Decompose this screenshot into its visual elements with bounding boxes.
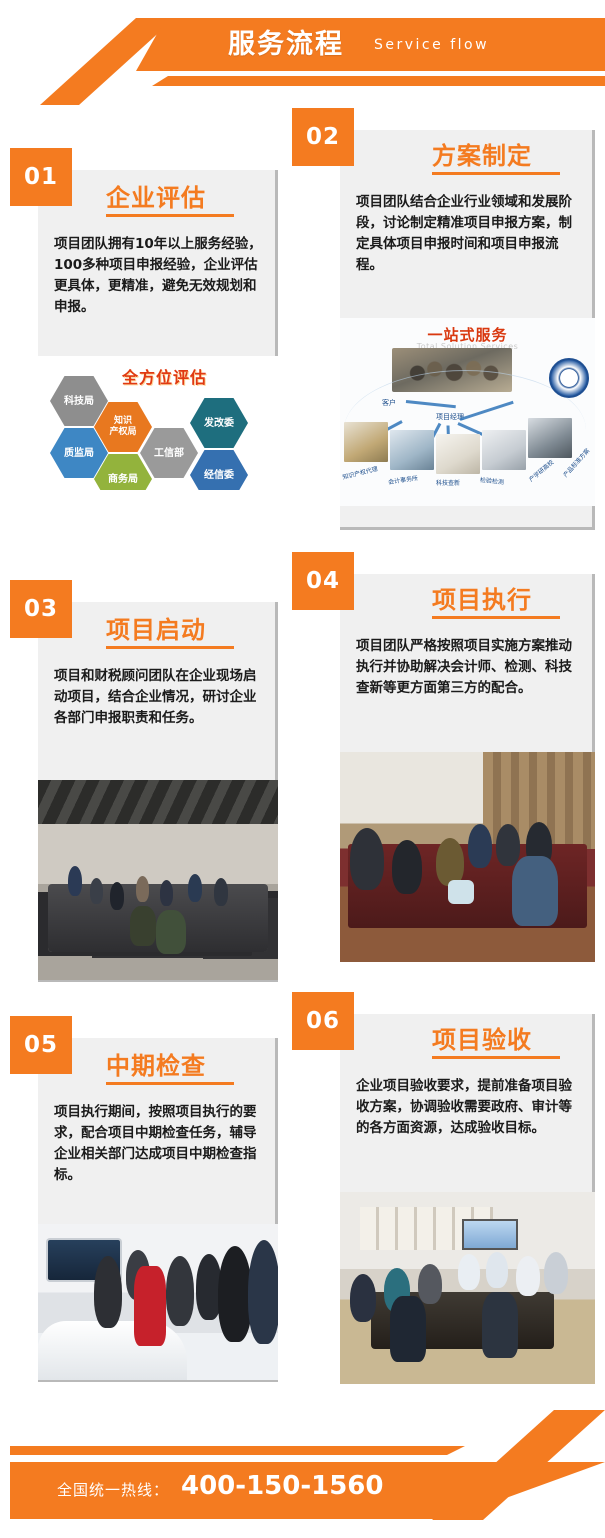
hex-node-fagai: 发改委 — [190, 398, 248, 448]
step-title-04: 项目执行 — [432, 580, 532, 615]
step-title-03: 项目启动 — [106, 610, 206, 645]
hex-node-jingxin: 经信委 — [190, 450, 248, 490]
banner-bar — [136, 18, 605, 71]
photo-working-session-04 — [340, 752, 595, 962]
oss-thumb-documents — [436, 434, 480, 474]
title-rule-05 — [106, 1082, 234, 1085]
title-rule-04 — [432, 616, 560, 619]
iso-seal-icon — [549, 358, 589, 398]
oss-caption-1: 会计事务所 — [388, 473, 419, 486]
step-number-badge-05: 05 — [10, 1016, 72, 1074]
step-number-badge-04: 04 — [292, 552, 354, 610]
page-title: 服务流程 — [228, 26, 344, 64]
photo-meeting-room-03 — [38, 780, 278, 980]
hexagon-figure-title: 全方位评估 — [122, 364, 207, 388]
one-stop-service-figure: 一站式服务 Total Solution Services 客户 项目经理 知识… — [340, 318, 595, 506]
oss-caption-3: 检验检测 — [480, 475, 505, 486]
footer-accent-line — [10, 1446, 465, 1455]
step-description-04: 项目团队严格按照项目实施方案推动执行并协助解决会计师、检测、科技查新等更方面第三… — [356, 636, 578, 699]
title-rule-06 — [432, 1056, 560, 1059]
oss-node-customer: 客户 — [382, 398, 396, 408]
title-rule-02 — [432, 172, 560, 175]
photo-showroom-visit-05 — [38, 1224, 278, 1380]
photo-acceptance-meeting-06 — [340, 1192, 595, 1384]
photo-people-04 — [340, 752, 595, 962]
step-title-02: 方案制定 — [432, 136, 532, 171]
oss-thumb-lab — [482, 430, 526, 470]
photo-people-05 — [38, 1224, 278, 1380]
step-number-badge-03: 03 — [10, 580, 72, 638]
step-number-badge-06: 06 — [292, 992, 354, 1050]
hotline-number[interactable]: 400-150-1560 — [181, 1471, 384, 1501]
step-description-05: 项目执行期间，按照项目执行的要求，配合项目中期检查任务，辅导企业相关部门达成项目… — [54, 1102, 264, 1186]
oss-thumb-books — [344, 422, 388, 462]
hex-node-gongxin: 工信部 — [140, 428, 198, 478]
step-number-badge-02: 02 — [292, 108, 354, 166]
photo-people-03 — [38, 780, 278, 980]
step-title-01: 企业评估 — [106, 178, 206, 213]
step-number-badge-01: 01 — [10, 148, 72, 206]
oss-thumb-university — [528, 418, 572, 458]
assessment-hexagon-figure: 全方位评估 科技局 知识产权局 质监局 商务局 工信部 发改委 经信委 — [38, 356, 278, 490]
service-flow-poster: 服务流程 Service flow 01 企业评估 项目团队拥有10年以上服务经… — [0, 0, 605, 1538]
hotline-label: 全国统一热线： — [57, 1479, 169, 1500]
photo-people-06 — [340, 1192, 595, 1384]
step-description-02: 项目团队结合企业行业领域和发展阶段，讨论制定精准项目申报方案，制定具体项目申报时… — [356, 192, 578, 276]
step-title-06: 项目验收 — [432, 1020, 532, 1055]
title-rule-01 — [106, 214, 234, 217]
oss-caption-0: 知识产权代理 — [341, 464, 378, 481]
step-description-06: 企业项目验收要求，提前准备项目验收方案，协调验收需要政府、审计等的各方面资源，达… — [356, 1076, 578, 1139]
step-title-05: 中期检查 — [106, 1046, 206, 1081]
oss-thumb-office — [390, 430, 434, 470]
page-subtitle: Service flow — [374, 37, 489, 53]
step-description-01: 项目团队拥有10年以上服务经验，100多种项目申报经验，企业评估更具体，更精准，… — [54, 234, 262, 318]
oss-caption-2: 科技查新 — [436, 478, 460, 487]
step-description-03: 项目和财税顾问团队在企业现场启动项目，结合企业情况，研讨企业各部门申报职责和任务… — [54, 666, 264, 729]
footer-hotline-bar: 全国统一热线： 400-150-1560 — [0, 1410, 605, 1538]
oss-caption-4: 产学研高校 — [527, 457, 556, 483]
banner-accent-line — [152, 76, 605, 86]
header-banner: 服务流程 Service flow — [0, 0, 605, 105]
title-rule-03 — [106, 646, 234, 649]
